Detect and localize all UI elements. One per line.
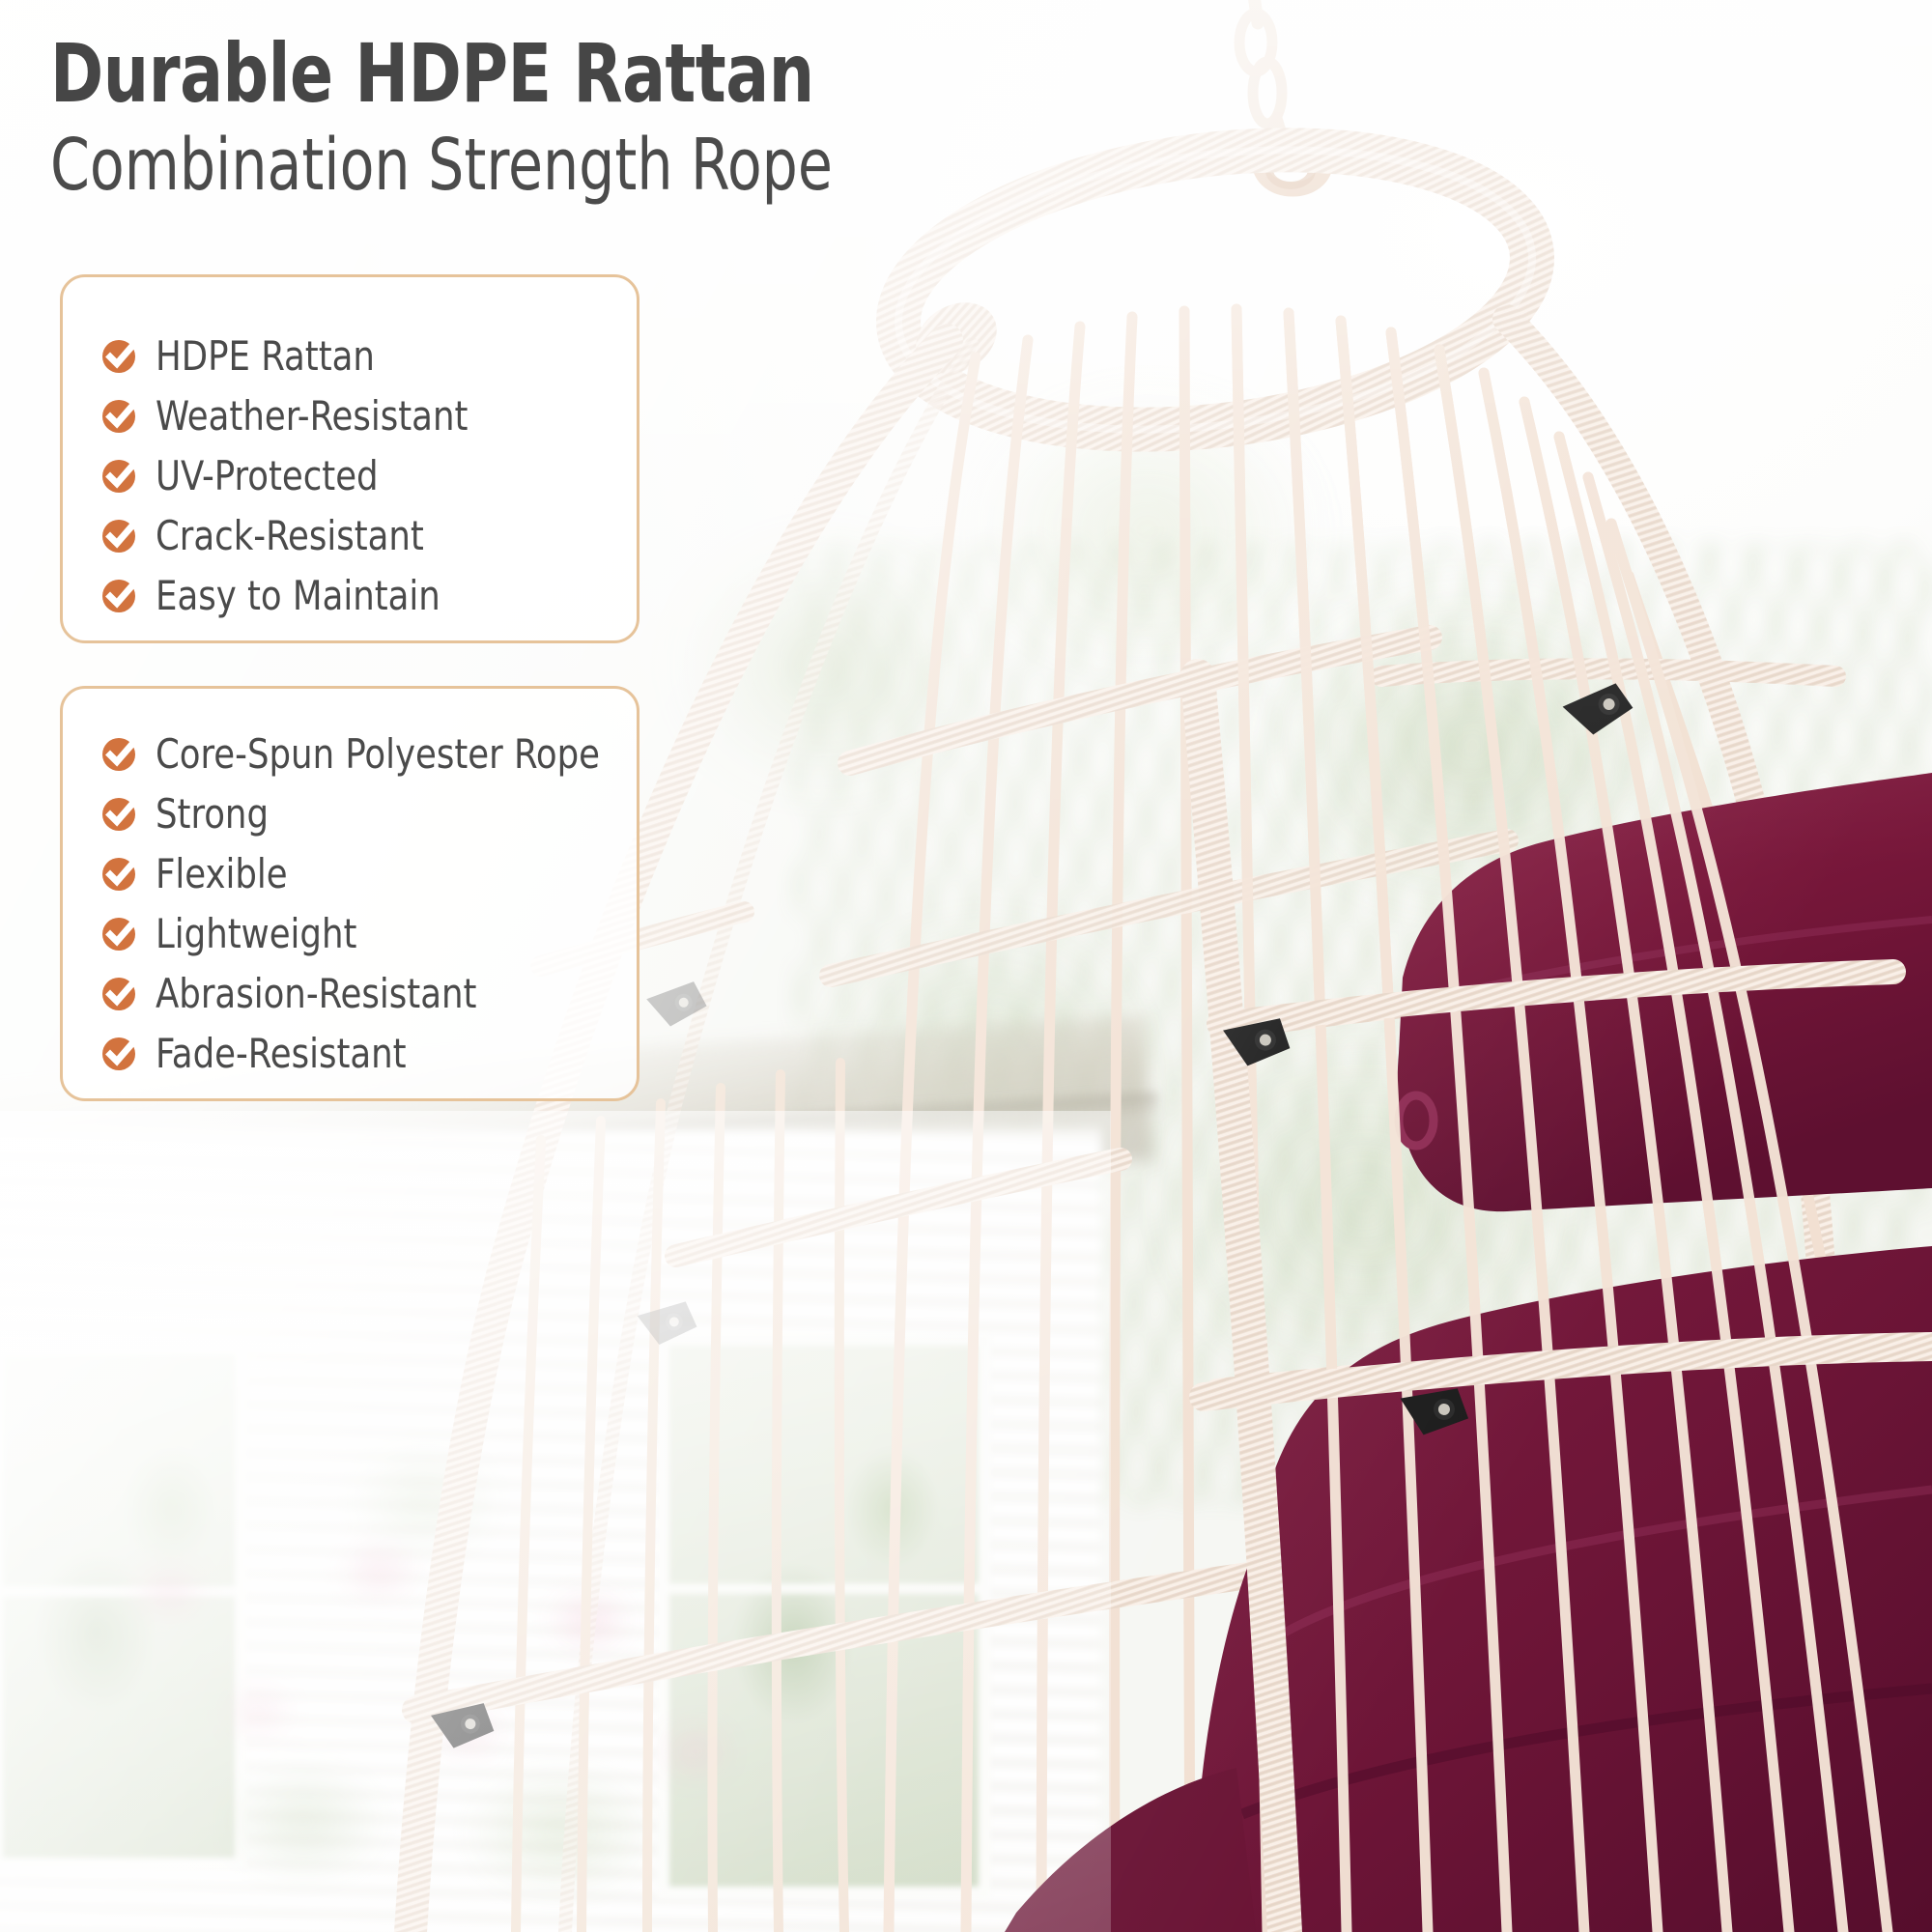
check-circle-icon <box>99 574 142 616</box>
feature-label: Flexible <box>156 850 288 897</box>
list-item: Lightweight <box>99 903 617 963</box>
heading-line-2: Combination Strength Rope <box>50 128 900 205</box>
check-circle-icon <box>99 792 142 835</box>
hanging-chain <box>1239 0 1285 145</box>
feature-label: Crack-Resistant <box>156 512 424 559</box>
product-feature-graphic: Durable HDPE Rattan Combination Strength… <box>0 0 1932 1932</box>
feature-label: Lightweight <box>156 910 356 957</box>
check-circle-icon <box>99 912 142 954</box>
page-title: Durable HDPE Rattan Combination Strength… <box>50 33 1016 205</box>
feature-card-material: HDPE Rattan Weather-Resistant <box>60 274 639 643</box>
list-item: UV-Protected <box>99 445 617 505</box>
feature-label: Strong <box>156 790 269 838</box>
heading-line-1: Durable HDPE Rattan <box>50 33 900 116</box>
check-circle-icon <box>99 394 142 437</box>
list-item: Weather-Resistant <box>99 385 617 445</box>
feature-label: HDPE Rattan <box>156 332 375 380</box>
check-circle-icon <box>99 334 142 377</box>
list-item: Easy to Maintain <box>99 565 617 625</box>
left-panel-spokes <box>516 1063 844 1932</box>
check-circle-icon <box>99 852 142 895</box>
feature-label: UV-Protected <box>156 452 379 499</box>
feature-list-rope: Core-Spun Polyester Rope Strong <box>99 724 617 1083</box>
list-item: Fade-Resistant <box>99 1023 617 1083</box>
feature-list-material: HDPE Rattan Weather-Resistant <box>99 326 617 625</box>
feature-label: Abrasion-Resistant <box>156 970 476 1017</box>
feature-label: Easy to Maintain <box>156 572 440 619</box>
list-item: Crack-Resistant <box>99 505 617 565</box>
check-circle-icon <box>99 514 142 556</box>
feature-label: Core-Spun Polyester Rope <box>156 730 600 778</box>
list-item: HDPE Rattan <box>99 326 617 385</box>
list-item: Strong <box>99 783 617 843</box>
feature-label: Weather-Resistant <box>156 392 468 440</box>
list-item: Core-Spun Polyester Rope <box>99 724 617 783</box>
feature-card-rope: Core-Spun Polyester Rope Strong <box>60 686 639 1101</box>
check-circle-icon <box>99 1032 142 1074</box>
list-item: Flexible <box>99 843 617 903</box>
feature-label: Fade-Resistant <box>156 1030 407 1077</box>
check-circle-icon <box>99 972 142 1014</box>
check-circle-icon <box>99 732 142 775</box>
check-circle-icon <box>99 454 142 497</box>
list-item: Abrasion-Resistant <box>99 963 617 1023</box>
